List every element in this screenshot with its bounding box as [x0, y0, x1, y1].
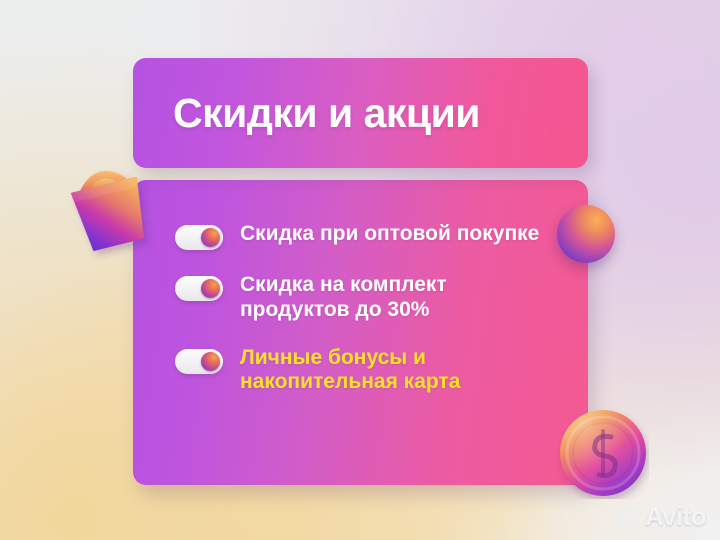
title-banner: Скидки и акции: [133, 58, 588, 168]
toggle-switch-personal-bonuses[interactable]: [175, 349, 223, 374]
feature-label: Личные бонусы и накопительная карта: [240, 346, 550, 396]
avito-logo-icon: [616, 506, 640, 528]
shopping-bag-icon: [55, 152, 163, 260]
feature-label: Скидка на комплект продуктов до 30%: [240, 273, 550, 323]
list-item: Личные бонусы и накопительная карта: [175, 346, 558, 396]
toggle-switch-bundle-discount[interactable]: [175, 276, 223, 301]
features-card: Скидка при оптовой покупке Скидка на ком…: [133, 180, 588, 485]
currency-coin-icon: [557, 407, 649, 499]
page-title: Скидки и акции: [173, 93, 480, 134]
avito-watermark: Avito: [616, 501, 706, 532]
list-item: Скидка на комплект продуктов до 30%: [175, 273, 558, 323]
toggle-switch-wholesale-discount[interactable]: [175, 225, 223, 250]
toggle-knob-icon: [201, 228, 220, 247]
promo-banner-stage: Скидки и акции Скидка при оптовой покупк…: [0, 0, 720, 540]
toggle-knob-icon: [201, 352, 220, 371]
feature-list: Скидка при оптовой покупке Скидка на ком…: [175, 222, 558, 395]
toggle-knob-icon: [201, 279, 220, 298]
gradient-sphere-icon: [557, 205, 615, 263]
list-item: Скидка при оптовой покупке: [175, 222, 558, 250]
avito-watermark-text: Avito: [645, 501, 706, 532]
feature-label: Скидка при оптовой покупке: [240, 222, 539, 247]
